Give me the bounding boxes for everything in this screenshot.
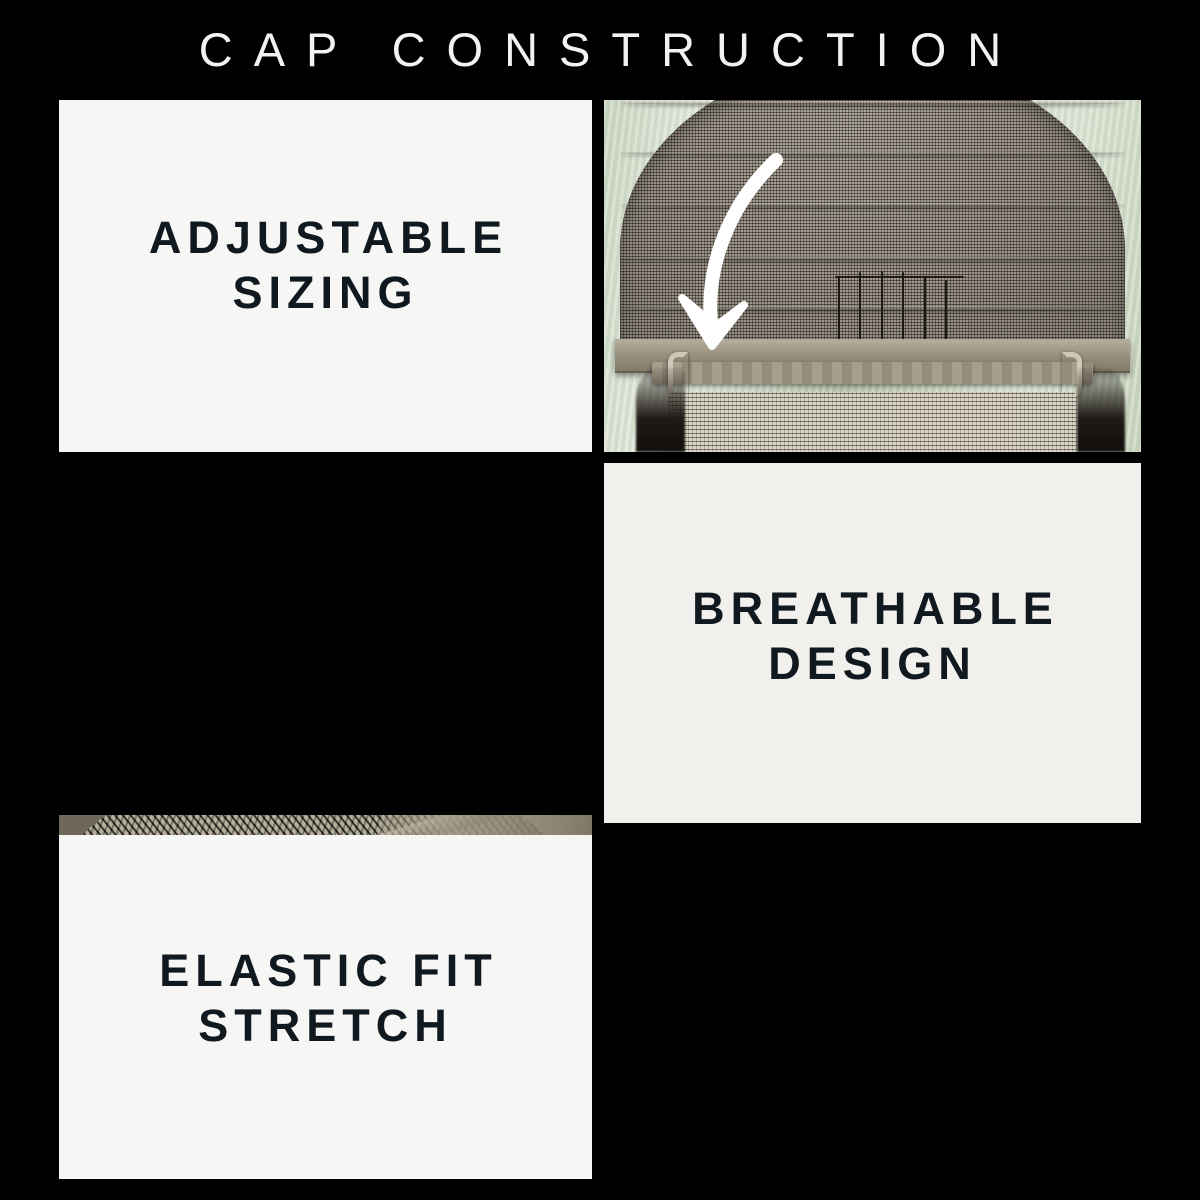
- cap-weft-row: [620, 306, 1125, 310]
- poster-root: CAP CONSTRUCTION ADJUSTABLE SIZING: [0, 0, 1200, 1200]
- feature-card-breathable-design: BREATHABLE DESIGN: [604, 463, 1141, 823]
- feature-label-elastic-fit-stretch: ELASTIC FIT STRETCH: [59, 944, 592, 1054]
- cap-weft-row: [620, 151, 1125, 155]
- cap-lower-mesh: [668, 392, 1076, 452]
- hair-strands-right: [1077, 368, 1125, 452]
- feature-photo-cap-back-straps: [604, 100, 1141, 452]
- feature-label-breathable-design: BREATHABLE DESIGN: [604, 582, 1141, 692]
- page-title: CAP CONSTRUCTION: [0, 20, 1200, 80]
- feature-card-adjustable-sizing: ADJUSTABLE SIZING: [59, 100, 592, 452]
- cap-weft-row: [620, 256, 1125, 260]
- comb-stitch-bar: [835, 276, 964, 278]
- feature-grid: ADJUSTABLE SIZING: [59, 100, 1141, 1179]
- adjustable-strap: [652, 362, 1092, 384]
- wig-cap-dome: [620, 100, 1125, 368]
- feature-label-adjustable-sizing: ADJUSTABLE SIZING: [59, 211, 592, 321]
- hair-strands-left: [636, 368, 684, 452]
- feature-card-elastic-fit-stretch: ELASTIC FIT STRETCH: [59, 835, 592, 1179]
- cap-mesh-texture: [620, 100, 1125, 368]
